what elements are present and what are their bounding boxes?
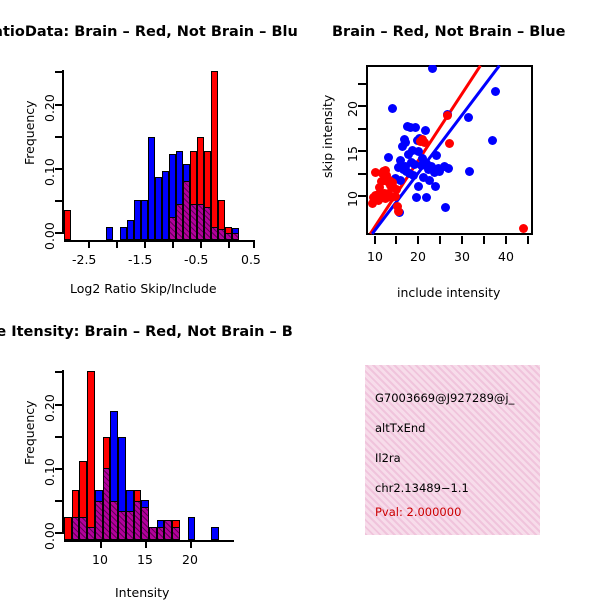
scatter-point-brain <box>374 196 383 205</box>
histogram-bar-upper <box>183 164 190 182</box>
histogram-bar-overlap <box>141 507 149 540</box>
scatter-point-not-brain <box>384 153 393 162</box>
histogram-bar-not-brain <box>127 220 134 240</box>
histogram-bar-overlap <box>218 228 225 240</box>
histogram-bar-overlap <box>103 467 111 540</box>
scatter-y-label-15: 15 <box>345 146 360 162</box>
ratio-histogram-bars <box>0 0 300 300</box>
event-info-box: G7003669@J927289@j_ altTxEnd Il2ra chr2.… <box>365 365 540 535</box>
scatter-x-label-30: 30 <box>454 249 470 264</box>
histogram-bar-overlap <box>87 527 95 540</box>
histogram-bar-upper <box>79 461 87 519</box>
scatter-point-brain <box>519 224 528 233</box>
scatter-point-not-brain <box>465 167 474 176</box>
panel-intensity-scatter: Brain – Red, Not Brain – Blue skip inten… <box>300 0 600 300</box>
histogram-bar-upper <box>190 151 197 205</box>
event-info-line-locus: chr2.13489−1.1 <box>375 481 469 495</box>
scatter-point-not-brain <box>432 151 441 160</box>
scatter-xlabel: include intensity <box>397 285 500 300</box>
scatter-point-not-brain <box>409 171 418 180</box>
histogram-bar-upper <box>225 227 232 234</box>
histogram-bar-upper <box>169 154 176 218</box>
panel-ratio-histogram: RatioData: Brain – Red, Not Brain – Blu … <box>0 0 300 300</box>
histogram-bar-brain <box>64 210 71 240</box>
histogram-bar-not-brain <box>162 171 169 240</box>
scatter-point-not-brain <box>421 126 430 135</box>
scatter-point-not-brain <box>418 154 427 163</box>
scatter-point-not-brain <box>411 123 420 132</box>
histogram-bar-upper <box>141 500 149 508</box>
scatter-point-not-brain <box>388 104 397 113</box>
histogram-bar-not-brain <box>120 227 127 240</box>
scatter-point-not-brain <box>444 164 453 173</box>
histogram-bar-upper <box>95 490 103 501</box>
scatter-x-label-40: 40 <box>498 249 514 264</box>
scatter-point-not-brain <box>491 87 500 96</box>
histogram-bar-upper <box>232 228 239 233</box>
scatter-title: Brain – Red, Not Brain – Blue <box>332 24 565 40</box>
histogram-bar-brain <box>64 517 72 540</box>
histogram-bar-overlap <box>134 500 142 540</box>
histogram-bar-upper <box>87 371 95 528</box>
histogram-bar-not-brain <box>148 137 155 240</box>
scatter-x-tick-10 <box>374 236 376 244</box>
scatter-y-label-10: 10 <box>345 191 360 207</box>
histogram-bar-upper <box>118 437 126 511</box>
scatter-point-not-brain <box>412 193 421 202</box>
histogram-bar-overlap <box>172 527 180 540</box>
scatter-point-not-brain <box>441 203 450 212</box>
histogram-bar-overlap <box>126 510 134 540</box>
scatter-point-brain <box>377 177 386 186</box>
histogram-bar-overlap <box>95 500 103 540</box>
histogram-bar-overlap <box>169 217 176 240</box>
histogram-bar-upper <box>72 490 80 518</box>
panel-event-info: G7003669@J927289@j_ altTxEnd Il2ra chr2.… <box>300 300 600 600</box>
event-info-line-gene: Il2ra <box>375 451 401 465</box>
scatter-point-not-brain <box>488 136 497 145</box>
event-info-line-type: altTxEnd <box>375 421 425 435</box>
histogram-bar-overlap <box>197 204 204 240</box>
scatter-fit-line-brain <box>369 65 482 235</box>
histogram-bar-upper <box>103 437 111 468</box>
histogram-bar-overlap <box>204 207 211 240</box>
histogram-bar-not-brain <box>141 200 148 240</box>
scatter-point-brain <box>445 139 454 148</box>
scatter-x-tick-25 <box>439 236 441 244</box>
histogram-bar-not-brain <box>155 177 162 240</box>
histogram-bar-upper <box>176 151 183 205</box>
histogram-bar-upper <box>126 490 134 511</box>
histogram-bar-overlap <box>164 520 172 540</box>
histogram-bar-not-brain <box>188 517 196 540</box>
histogram-bar-overlap <box>157 527 165 540</box>
histogram-bar-not-brain <box>134 200 141 240</box>
scatter-point-not-brain <box>414 182 423 191</box>
histogram-bar-overlap <box>183 180 190 240</box>
scatter-point-not-brain <box>398 142 407 151</box>
gene-histogram-bars <box>0 300 300 600</box>
scatter-point-not-brain <box>431 182 440 191</box>
histogram-bar-upper <box>134 490 142 501</box>
histogram-bar-overlap <box>72 517 80 540</box>
scatter-x-tick-35 <box>483 236 485 244</box>
scatter-point-not-brain <box>422 193 431 202</box>
scatter-x-tick-45 <box>527 236 529 244</box>
scatter-points-layer <box>366 65 533 235</box>
histogram-bar-upper <box>197 137 204 205</box>
histogram-bar-overlap <box>79 517 87 540</box>
histogram-bar-overlap <box>149 527 157 540</box>
histogram-bar-overlap <box>176 204 183 240</box>
histogram-bar-upper <box>218 200 225 229</box>
scatter-x-tick-30 <box>461 236 463 244</box>
scatter-point-not-brain <box>435 167 444 176</box>
histogram-bar-upper <box>211 71 218 228</box>
scatter-point-not-brain <box>401 162 410 171</box>
scatter-point-brain <box>443 111 452 120</box>
histogram-bar-upper <box>110 411 118 502</box>
scatter-point-not-brain <box>464 113 473 122</box>
event-info-line-pvalue: Pval: 2.000000 <box>375 505 461 519</box>
scatter-x-tick-15 <box>395 236 397 244</box>
histogram-bar-overlap <box>211 227 218 240</box>
scatter-x-label-20: 20 <box>410 249 426 264</box>
scatter-x-tick-40 <box>505 236 507 244</box>
histogram-bar-overlap <box>190 204 197 240</box>
panel-gene-intensity-histogram: ne Itensity: Brain – Red, Not Brain – B … <box>0 300 300 600</box>
histogram-bar-overlap <box>110 500 118 540</box>
scatter-y-label-20: 20 <box>345 101 360 117</box>
histogram-bar-not-brain <box>211 527 219 540</box>
histogram-bar-overlap <box>118 510 126 540</box>
histogram-bar-upper <box>172 520 180 528</box>
scatter-x-label-10: 10 <box>367 249 383 264</box>
scatter-x-tick-20 <box>417 236 419 244</box>
histogram-bar-upper <box>157 520 165 528</box>
histogram-bar-upper <box>204 151 211 209</box>
event-info-line-id: G7003669@J927289@j_ <box>375 391 514 405</box>
histogram-bar-not-brain <box>106 227 113 240</box>
scatter-point-not-brain <box>428 65 437 73</box>
scatter-ylabel: skip intensity <box>320 95 335 178</box>
